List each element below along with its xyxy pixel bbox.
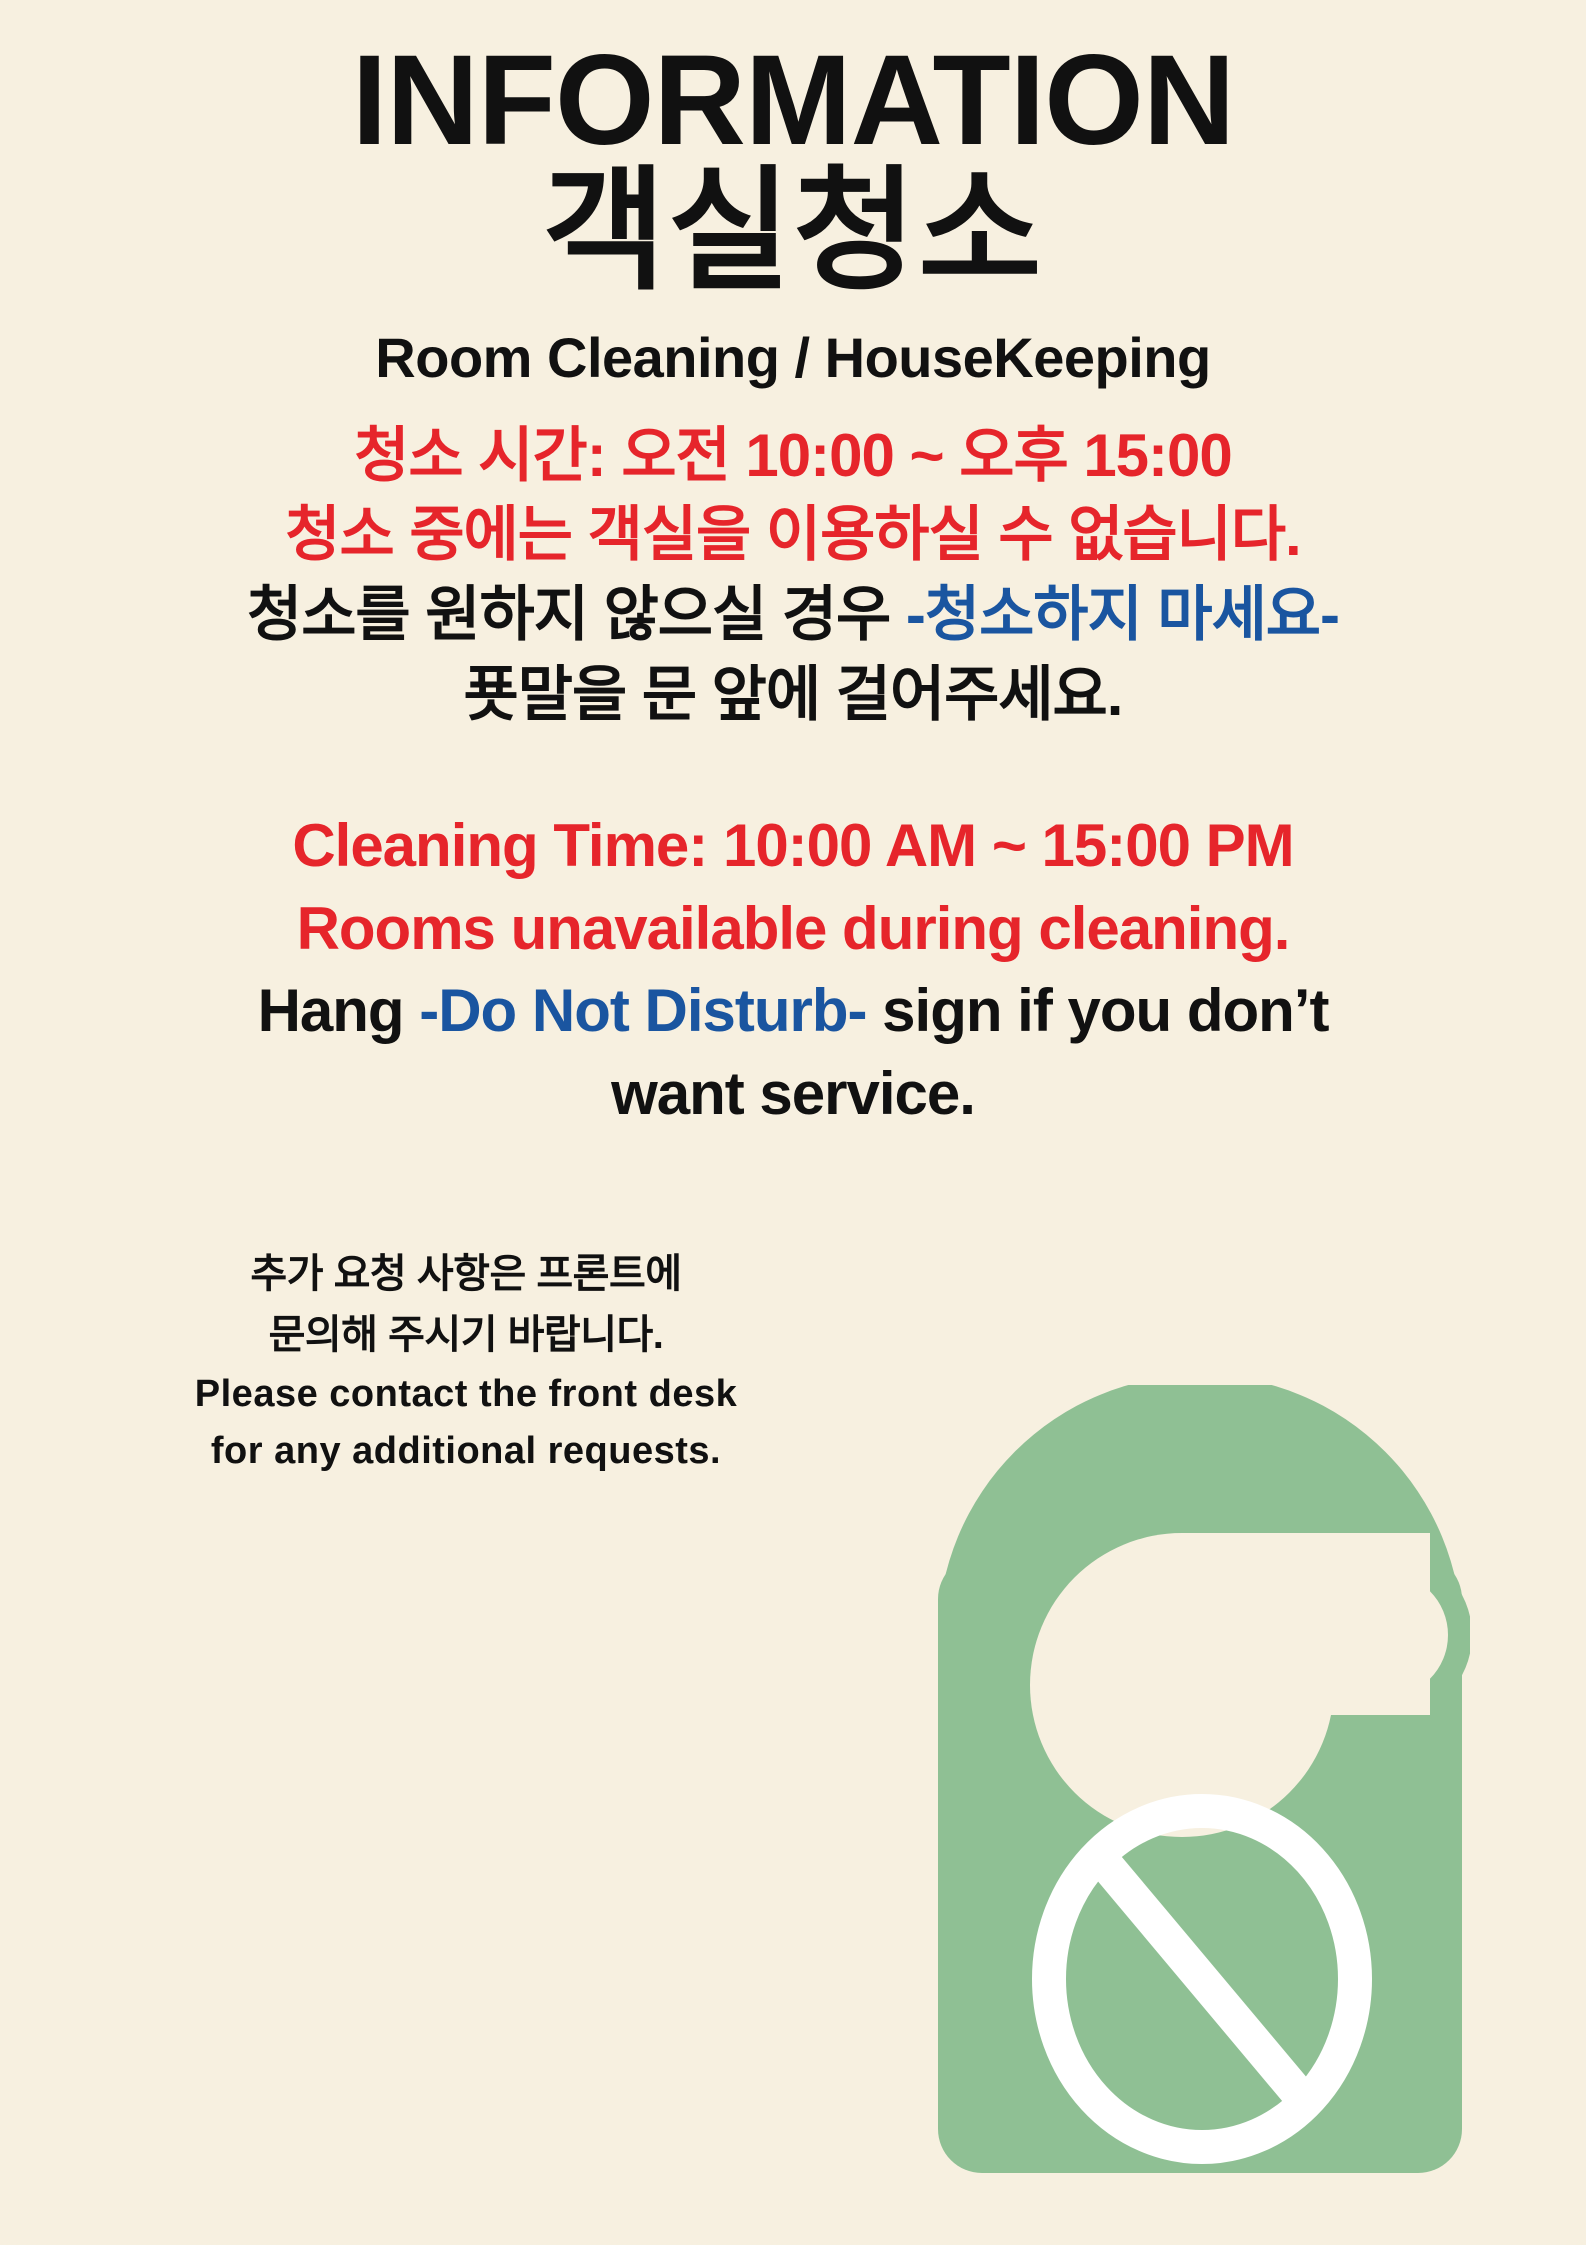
- page-title-english: INFORMATION: [36, 0, 1550, 167]
- english-notice-block: Cleaning Time: 10:00 AM ~ 15:00 PM Rooms…: [36, 805, 1550, 1136]
- footer-contact-note: 추가 요청 사항은 프론트에 문의해 주시기 바랍니다. Please cont…: [36, 1244, 896, 1481]
- english-dnd-highlight: -Do Not Disturb-: [419, 977, 866, 1044]
- korean-dnd-prefix: 청소를 원하지 않으실 경우: [247, 581, 906, 648]
- poster-content: INFORMATION 객실청소 Room Cleaning / HouseKe…: [0, 0, 1586, 2245]
- footer-korean-line-1: 추가 요청 사항은 프론트에: [36, 1244, 896, 1305]
- korean-dnd-highlight: -청소하지 마세요-: [906, 581, 1339, 648]
- korean-do-not-disturb-line: 청소를 원하지 않으실 경우 -청소하지 마세요-: [36, 575, 1550, 655]
- korean-rooms-unavailable-line: 청소 중에는 객실을 이용하실 수 없습니다.: [36, 495, 1550, 575]
- english-rooms-unavailable-line: Rooms unavailable during cleaning.: [36, 888, 1550, 971]
- footer-english-line-1: Please contact the front desk: [36, 1366, 896, 1424]
- english-want-service-line: want service.: [36, 1053, 1550, 1136]
- english-cleaning-time-line: Cleaning Time: 10:00 AM ~ 15:00 PM: [36, 805, 1550, 888]
- poster-canvas: INFORMATION 객실청소 Room Cleaning / HouseKe…: [0, 0, 1586, 2245]
- korean-hang-sign-line: 푯말을 문 앞에 걸어주세요.: [36, 655, 1550, 735]
- korean-cleaning-time-line: 청소 시간: 오전 10:00 ~ 오후 15:00: [36, 416, 1550, 496]
- english-dnd-prefix: Hang: [258, 977, 420, 1044]
- footer-english-line-2: for any additional requests.: [36, 1423, 896, 1481]
- subtitle-english: Room Cleaning / HouseKeeping: [36, 325, 1550, 390]
- page-title-korean: 객실청소: [36, 161, 1550, 303]
- footer-korean-line-2: 문의해 주시기 바랍니다.: [36, 1305, 896, 1366]
- english-dnd-suffix: sign if you don’t: [866, 977, 1328, 1044]
- english-do-not-disturb-line: Hang -Do Not Disturb- sign if you don’t: [36, 970, 1550, 1053]
- korean-notice-block: 청소 시간: 오전 10:00 ~ 오후 15:00 청소 중에는 객실을 이용…: [36, 416, 1550, 735]
